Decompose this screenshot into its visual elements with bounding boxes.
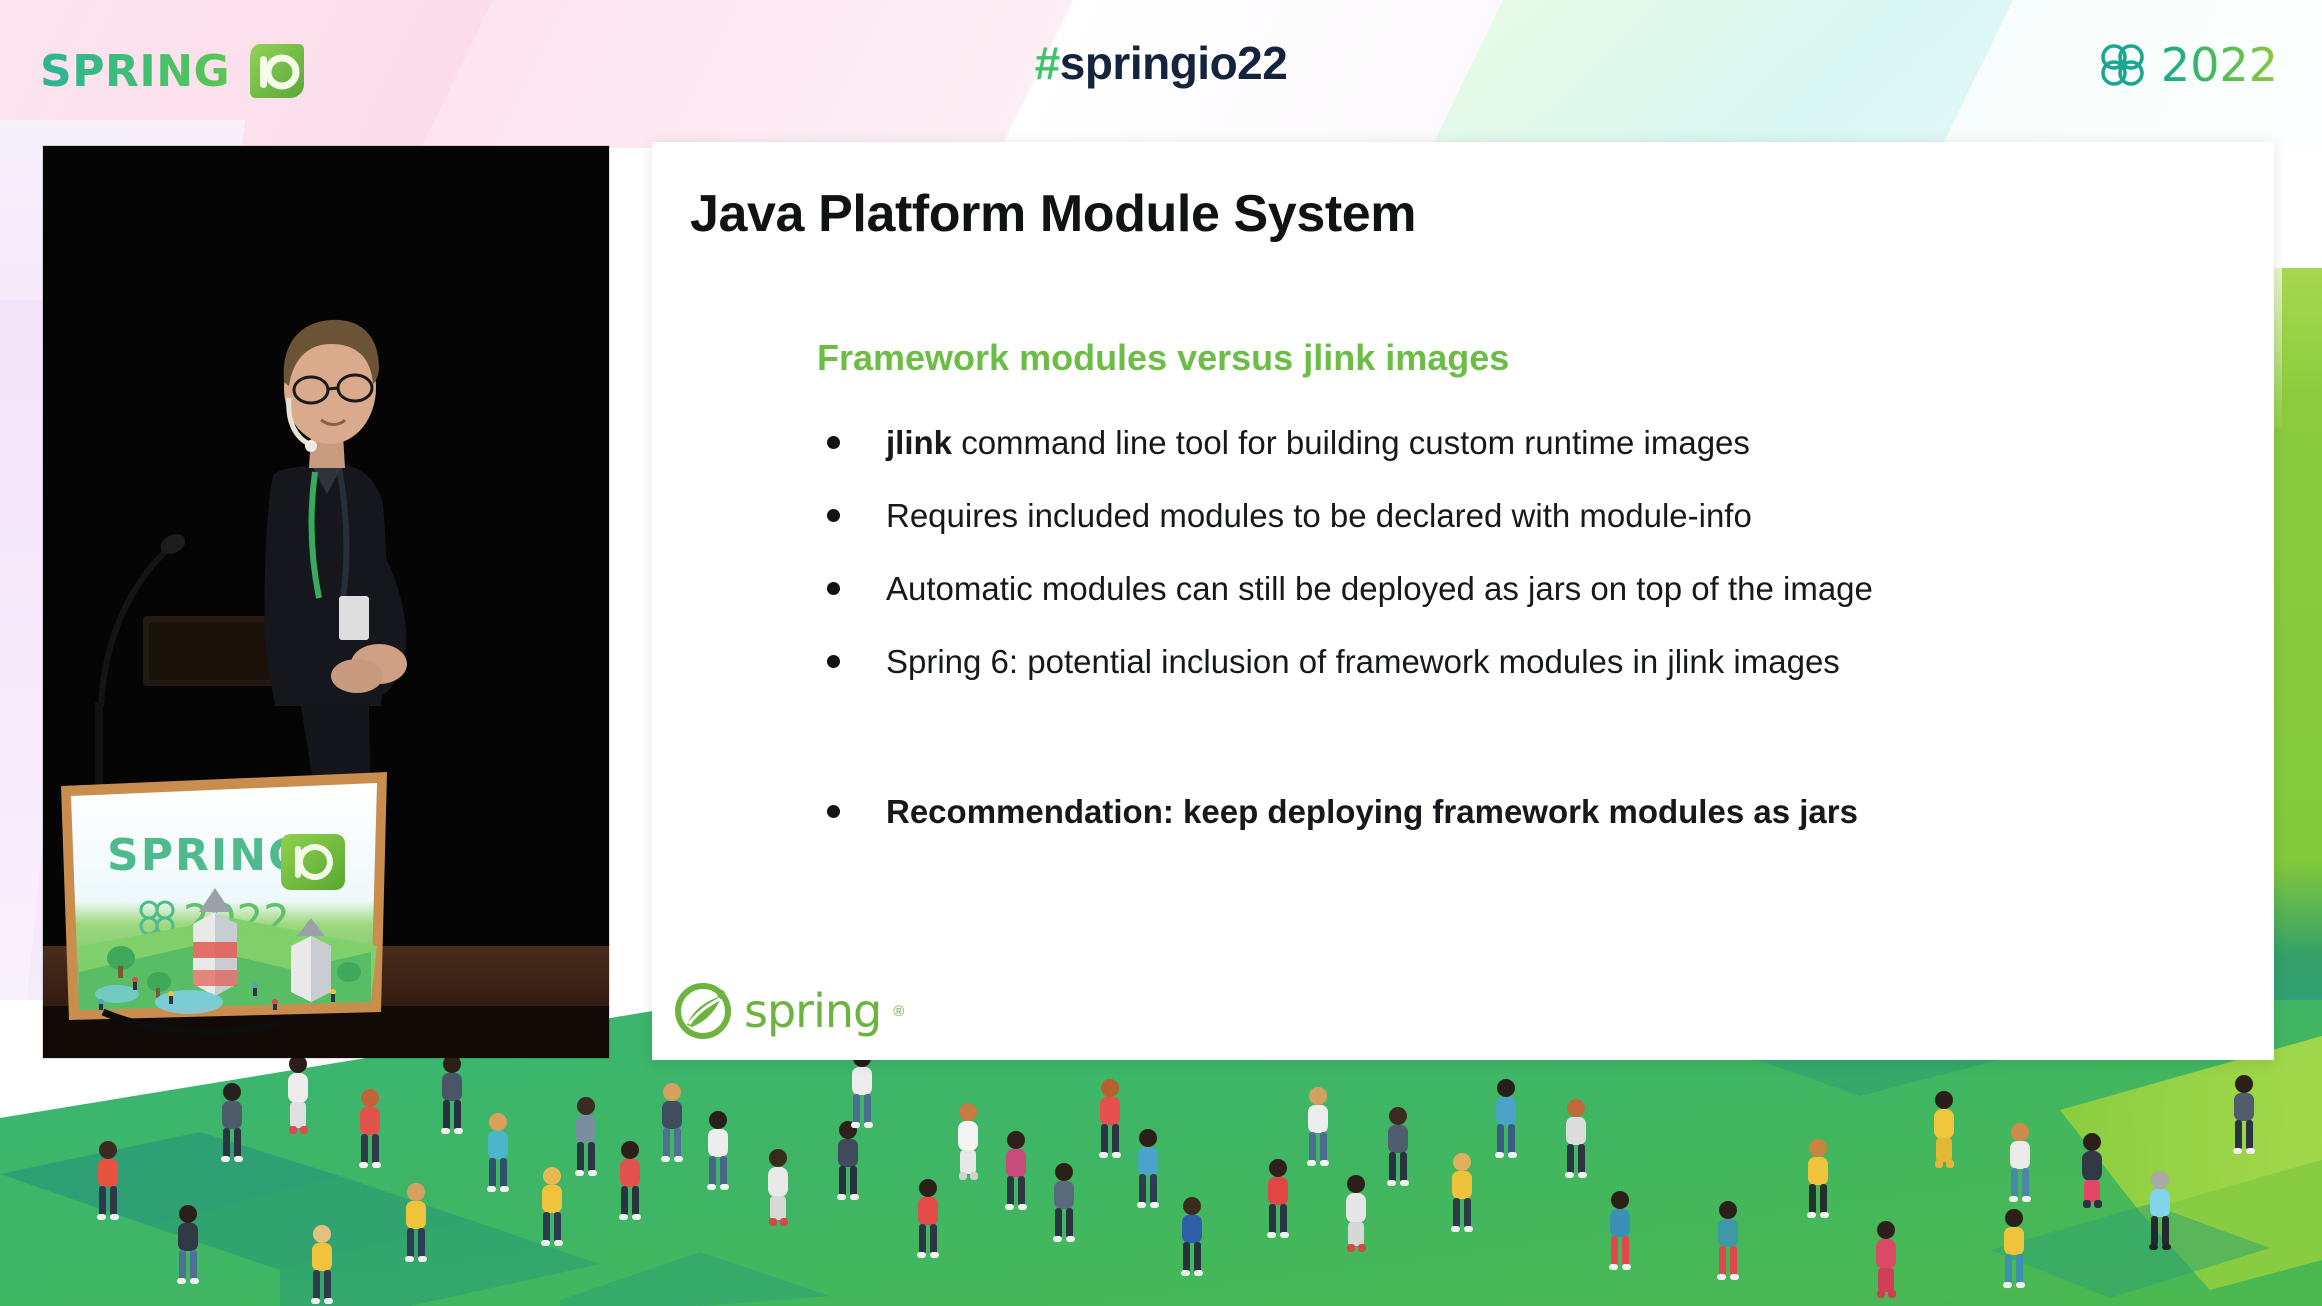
bullet-text: Automatic modules can still be deployed … bbox=[886, 566, 1873, 613]
list-item-recommendation: Recommendation: keep deploying framework… bbox=[827, 789, 2227, 836]
bullet-dot-icon bbox=[827, 805, 840, 818]
list-item: jlink command line tool for building cus… bbox=[827, 420, 2227, 467]
spring-leaf-icon bbox=[674, 982, 732, 1040]
svg-text:SPRING: SPRING bbox=[107, 830, 306, 881]
hashtag-text: springio22 bbox=[1060, 37, 1288, 89]
list-item: Requires included modules to be declared… bbox=[827, 493, 2227, 540]
presentation-stage: SPRING 2022 bbox=[0, 0, 2322, 1306]
slide-subtitle: Framework modules versus jlink images bbox=[817, 337, 1509, 379]
event-year-logo: 2022 bbox=[2097, 38, 2278, 92]
hash-symbol-icon: # bbox=[1035, 37, 1060, 89]
bullet-dot-icon bbox=[827, 436, 840, 449]
bullet-dot-icon bbox=[827, 509, 840, 522]
event-hashtag: #springio22 bbox=[0, 36, 2322, 90]
speaker-video[interactable]: SPRING 2022 bbox=[43, 146, 609, 1058]
spring-footer-logo: spring ® bbox=[674, 982, 904, 1040]
bullet-text: jlink command line tool for building cus… bbox=[886, 420, 1750, 467]
spring-wordmark: spring bbox=[744, 984, 881, 1038]
list-item: Automatic modules can still be deployed … bbox=[827, 566, 2227, 613]
year-text: 2022 bbox=[2161, 38, 2278, 92]
bullet-dot-icon bbox=[827, 582, 840, 595]
page-title: Java Platform Module System bbox=[690, 184, 1416, 244]
bullet-text: Spring 6: potential inclusion of framewo… bbox=[886, 639, 1840, 686]
clover-knot-icon bbox=[2097, 40, 2155, 90]
bullet-text: Requires included modules to be declared… bbox=[886, 493, 1752, 540]
bullet-list: jlink command line tool for building cus… bbox=[827, 420, 2227, 862]
spring-registered-mark: ® bbox=[893, 1003, 904, 1020]
recommendation-text: Recommendation: keep deploying framework… bbox=[886, 789, 1858, 836]
bullet-dot-icon bbox=[827, 655, 840, 668]
speaker-video-frame: SPRING 2022 bbox=[43, 146, 609, 1058]
list-item: Spring 6: potential inclusion of framewo… bbox=[827, 639, 2227, 686]
bullet-lead: jlink bbox=[886, 424, 952, 461]
slide-panel: Java Platform Module System Framework mo… bbox=[652, 142, 2274, 1060]
bullet-spacer bbox=[827, 711, 2227, 789]
bullet-body: command line tool for building custom ru… bbox=[952, 424, 1750, 461]
